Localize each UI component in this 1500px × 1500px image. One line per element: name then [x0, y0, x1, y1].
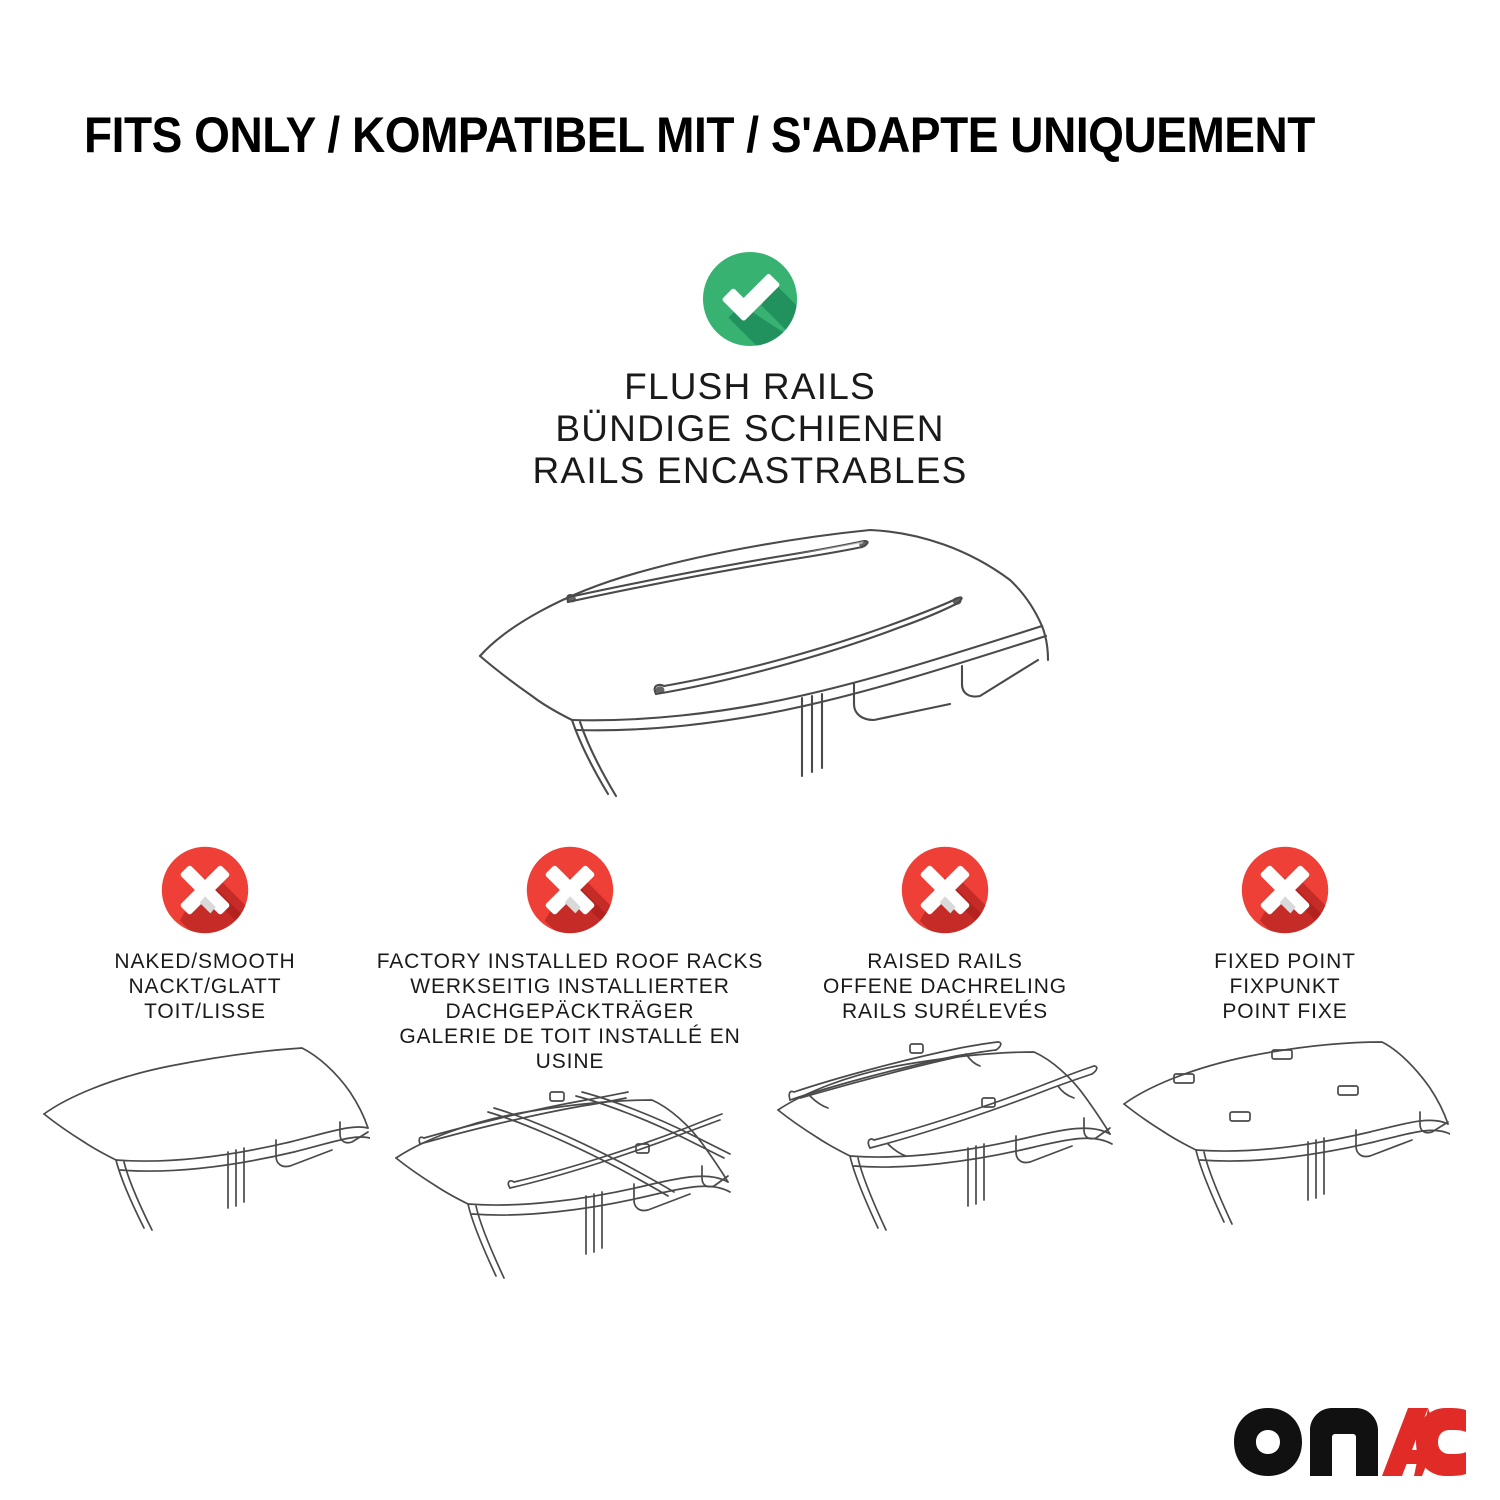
incompatible-label-naked-smooth: NAKED/SMOOTH NACKT/GLATT TOIT/LISSE — [114, 949, 295, 1024]
omac-logo — [1232, 1406, 1468, 1478]
compatible-label-de: BÜNDIGE SCHIENEN — [0, 408, 1500, 450]
incompatible-label-factory-roof-racks: FACTORY INSTALLED ROOF RACKS WERKSEITIG … — [370, 949, 770, 1074]
infographic-page: FITS ONLY / KOMPATIBEL MIT / S'ADAPTE UN… — [0, 0, 1500, 1500]
incompatible-item-naked-smooth: NAKED/SMOOTH NACKT/GLATT TOIT/LISSE — [40, 845, 370, 1266]
x-circle-icon — [525, 845, 615, 935]
incompatible-item-raised-rails: RAISED RAILS OFFENE DACHRELING RAILS SUR… — [770, 845, 1120, 1266]
page-title: FITS ONLY / KOMPATIBEL MIT / S'ADAPTE UN… — [84, 108, 1317, 162]
car-roof-raised-rails-illustration — [770, 1036, 1120, 1266]
compatible-label: FLUSH RAILS BÜNDIGE SCHIENEN RAILS ENCAS… — [0, 366, 1500, 492]
car-roof-factory-roof-racks-illustration — [390, 1086, 750, 1316]
logo-letter-o — [1234, 1408, 1302, 1476]
compatible-label-en: FLUSH RAILS — [0, 366, 1500, 408]
incompatible-label-fixed-point: FIXED POINT FIXPUNKT POINT FIXE — [1214, 949, 1356, 1024]
logo-letter-m — [1310, 1408, 1378, 1476]
incompatible-section: NAKED/SMOOTH NACKT/GLATT TOIT/LISSE — [40, 845, 1460, 1316]
x-circle-icon — [160, 845, 250, 935]
incompatible-label-raised-rails: RAISED RAILS OFFENE DACHRELING RAILS SUR… — [823, 949, 1067, 1024]
compatible-section: FLUSH RAILS BÜNDIGE SCHIENEN RAILS ENCAS… — [0, 250, 1500, 808]
x-circle-icon — [1240, 845, 1330, 935]
car-roof-fixed-point-illustration — [1120, 1036, 1450, 1266]
incompatible-item-factory-roof-racks: FACTORY INSTALLED ROOF RACKS WERKSEITIG … — [370, 845, 770, 1316]
incompatible-item-fixed-point: FIXED POINT FIXPUNKT POINT FIXE — [1120, 845, 1450, 1266]
check-circle-icon — [701, 250, 799, 348]
car-roof-flush-rails-illustration — [450, 508, 1050, 808]
compatible-label-fr: RAILS ENCASTRABLES — [0, 450, 1500, 492]
x-circle-icon — [900, 845, 990, 935]
car-roof-naked-smooth-illustration — [40, 1036, 370, 1266]
